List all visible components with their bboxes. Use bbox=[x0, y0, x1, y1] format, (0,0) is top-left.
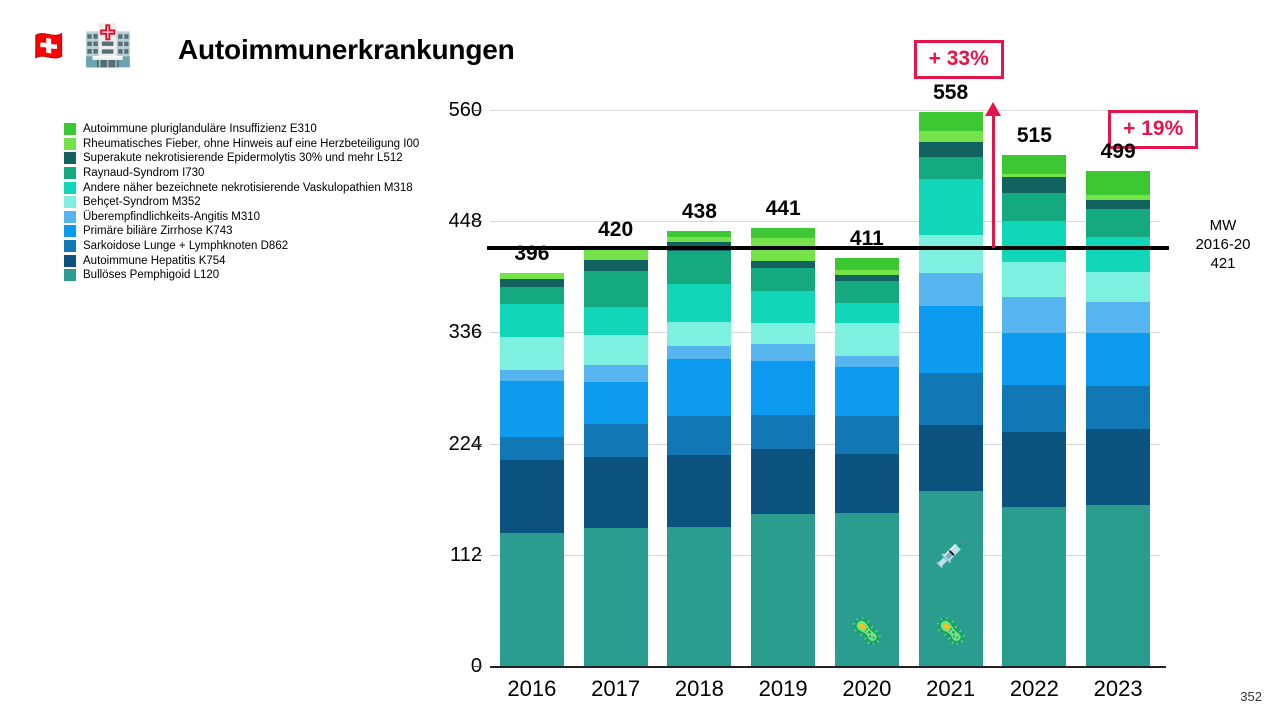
legend-item[interactable]: Bullöses Pemphigoid L120 bbox=[64, 268, 484, 283]
x-axis-label: 2020 bbox=[827, 676, 907, 702]
bar-segment[interactable] bbox=[835, 258, 899, 270]
legend-item-label: Autoimmune pluriglanduläre Insuffizienz … bbox=[83, 123, 317, 135]
bar-segment[interactable] bbox=[667, 455, 731, 527]
legend-swatch-icon bbox=[64, 196, 76, 208]
legend-item[interactable]: Raynaud-Syndrom I730 bbox=[64, 166, 484, 181]
legend-swatch-icon bbox=[64, 152, 76, 164]
virus-icon: 🦠 bbox=[931, 618, 971, 644]
bar-segment[interactable] bbox=[919, 157, 983, 179]
bar-segment[interactable] bbox=[584, 271, 648, 307]
bar-segment[interactable] bbox=[1002, 221, 1066, 262]
plot-area bbox=[490, 110, 1160, 666]
x-axis-label: 2023 bbox=[1078, 676, 1158, 702]
legend-item[interactable]: Autoimmune Hepatitis K754 bbox=[64, 253, 484, 268]
bar-segment[interactable] bbox=[500, 533, 564, 666]
bar-segment[interactable] bbox=[919, 425, 983, 492]
bar-segment[interactable] bbox=[751, 261, 815, 268]
gridline bbox=[490, 110, 1160, 111]
bar-segment[interactable] bbox=[1086, 505, 1150, 666]
virus-icon: 🦠 bbox=[847, 618, 887, 644]
bar-segment[interactable] bbox=[919, 306, 983, 374]
bar-total-label: 499 bbox=[1073, 140, 1163, 164]
legend-item-label: Rheumatisches Fieber, ohne Hinweis auf e… bbox=[83, 138, 419, 150]
y-axis-tick-mark bbox=[474, 444, 482, 445]
bar-segment[interactable] bbox=[584, 307, 648, 336]
mean-label-mw: MW bbox=[1180, 216, 1266, 235]
bar-segment[interactable] bbox=[584, 457, 648, 528]
page-title: Autoimmunerkrankungen bbox=[178, 34, 515, 66]
bar-total-label: 441 bbox=[738, 197, 828, 221]
legend-item[interactable]: Autoimmune pluriglanduläre Insuffizienz … bbox=[64, 122, 484, 137]
bar-segment[interactable] bbox=[835, 356, 899, 367]
bar-segment[interactable] bbox=[500, 279, 564, 287]
bar-total-label: 411 bbox=[822, 227, 912, 251]
bar-segment[interactable] bbox=[751, 344, 815, 361]
legend-item[interactable]: Überempfindlichkeits-Angitis M310 bbox=[64, 210, 484, 225]
legend-item[interactable]: Andere näher bezeichnete nekrotisierende… bbox=[64, 180, 484, 195]
bar-segment[interactable] bbox=[1086, 333, 1150, 386]
bar-segment[interactable] bbox=[1086, 272, 1150, 302]
legend-item-label: Sarkoidose Lunge + Lymphknoten D862 bbox=[83, 240, 288, 252]
bar-segment[interactable] bbox=[751, 268, 815, 291]
bar-total-label: 558 bbox=[906, 81, 996, 105]
bar-segment[interactable] bbox=[1002, 297, 1066, 334]
x-axis-label: 2018 bbox=[659, 676, 739, 702]
hospital-icon: 🏥 bbox=[83, 24, 133, 68]
bar-segment[interactable] bbox=[835, 303, 899, 323]
bar-segment[interactable] bbox=[667, 527, 731, 666]
bar-segment[interactable] bbox=[584, 249, 648, 260]
bar-segment[interactable] bbox=[1086, 171, 1150, 196]
swiss-flag-icon: 🇨🇭 bbox=[30, 30, 67, 64]
bar-stack[interactable] bbox=[500, 273, 564, 666]
legend-item-label: Überempfindlichkeits-Angitis M310 bbox=[83, 211, 260, 223]
legend-item-label: Bullöses Pemphigoid L120 bbox=[83, 269, 219, 281]
bar-total-label: 438 bbox=[654, 200, 744, 224]
bar-segment[interactable] bbox=[835, 454, 899, 514]
legend-item[interactable]: Superakute nekrotisierende Epidermolytis… bbox=[64, 151, 484, 166]
bar-segment[interactable] bbox=[500, 437, 564, 460]
bar-stack[interactable] bbox=[835, 258, 899, 666]
bar-total-label: 515 bbox=[989, 124, 1079, 148]
header: 🇨🇭 🏥 Autoimmunerkrankungen bbox=[0, 0, 1280, 92]
bar-segment[interactable] bbox=[835, 416, 899, 454]
chart-legend: Autoimmune pluriglanduläre Insuffizienz … bbox=[64, 122, 484, 283]
bar-segment[interactable] bbox=[835, 281, 899, 303]
bar-total-label: 396 bbox=[487, 242, 577, 266]
bar-total-label: 420 bbox=[571, 218, 661, 242]
bar-segment[interactable] bbox=[584, 335, 648, 365]
bar-segment[interactable] bbox=[500, 337, 564, 370]
bar-segment[interactable] bbox=[751, 514, 815, 666]
bar-segment[interactable] bbox=[667, 359, 731, 416]
legend-swatch-icon bbox=[64, 269, 76, 281]
bar-segment[interactable] bbox=[1002, 333, 1066, 385]
y-axis-tick-mark bbox=[474, 555, 482, 556]
x-axis-label: 2017 bbox=[576, 676, 656, 702]
x-axis-label: 2016 bbox=[492, 676, 572, 702]
x-axis-label: 2019 bbox=[743, 676, 823, 702]
bar-segment[interactable] bbox=[584, 424, 648, 457]
bar-segment[interactable] bbox=[1086, 200, 1150, 209]
legend-item[interactable]: Primäre biliäre Zirrhose K743 bbox=[64, 224, 484, 239]
bar-segment[interactable] bbox=[500, 370, 564, 381]
legend-item[interactable]: Rheumatisches Fieber, ohne Hinweis auf e… bbox=[64, 137, 484, 152]
mean-label-value: 421 bbox=[1180, 254, 1266, 273]
bar-segment[interactable] bbox=[584, 260, 648, 271]
bar-segment[interactable] bbox=[751, 323, 815, 345]
bar-segment[interactable] bbox=[584, 382, 648, 424]
legend-item-label: Autoimmune Hepatitis K754 bbox=[83, 255, 226, 267]
x-axis-label: 2021 bbox=[911, 676, 991, 702]
bar-segment[interactable] bbox=[1086, 209, 1150, 237]
bar-segment[interactable] bbox=[500, 460, 564, 533]
page-number: 352 bbox=[1240, 689, 1262, 704]
y-axis-tick-mark bbox=[474, 221, 482, 222]
bar-segment[interactable] bbox=[1002, 432, 1066, 507]
legend-swatch-icon bbox=[64, 211, 76, 223]
bar-segment[interactable] bbox=[919, 235, 983, 273]
bar-segment[interactable] bbox=[1002, 177, 1066, 194]
bar-segment[interactable] bbox=[919, 373, 983, 425]
bar-segment[interactable] bbox=[1086, 302, 1150, 334]
bar-segment[interactable] bbox=[667, 346, 731, 359]
legend-swatch-icon bbox=[64, 167, 76, 179]
bar-segment[interactable] bbox=[919, 273, 983, 306]
bar-stack[interactable] bbox=[667, 231, 731, 666]
bar-stack[interactable] bbox=[751, 228, 815, 666]
y-axis-tick-mark bbox=[474, 110, 482, 111]
bar-segment[interactable] bbox=[500, 381, 564, 437]
bar-segment[interactable] bbox=[1086, 237, 1150, 272]
bar-segment[interactable] bbox=[835, 323, 899, 357]
legend-item-label: Superakute nekrotisierende Epidermolytis… bbox=[83, 152, 403, 164]
bar-segment[interactable] bbox=[1086, 429, 1150, 505]
bar-segment[interactable] bbox=[584, 528, 648, 666]
legend-swatch-icon bbox=[64, 138, 76, 150]
legend-item-label: Primäre biliäre Zirrhose K743 bbox=[83, 225, 233, 237]
bar-segment[interactable] bbox=[919, 112, 983, 131]
legend-swatch-icon bbox=[64, 182, 76, 194]
bar-segment[interactable] bbox=[667, 416, 731, 455]
bar-segment[interactable] bbox=[1002, 193, 1066, 221]
legend-item-label: Andere näher bezeichnete nekrotisierende… bbox=[83, 182, 413, 194]
bar-segment[interactable] bbox=[835, 367, 899, 416]
bar-segment[interactable] bbox=[751, 361, 815, 415]
bar-segment[interactable] bbox=[919, 142, 983, 157]
bar-segment[interactable] bbox=[1086, 386, 1150, 429]
y-axis-tick-mark bbox=[474, 332, 482, 333]
bar-segment[interactable] bbox=[919, 131, 983, 142]
legend-swatch-icon bbox=[64, 225, 76, 237]
bar-segment[interactable] bbox=[1002, 507, 1066, 666]
bar-stack[interactable] bbox=[1086, 171, 1150, 666]
bar-segment[interactable] bbox=[1002, 155, 1066, 174]
mean-label-period: 2016-20 bbox=[1180, 235, 1266, 254]
syringe-icon: 💉 bbox=[931, 541, 971, 567]
bar-segment[interactable] bbox=[500, 287, 564, 304]
bar-segment[interactable] bbox=[919, 179, 983, 236]
bar-stack[interactable] bbox=[584, 249, 648, 666]
legend-swatch-icon bbox=[64, 240, 76, 252]
mean-line-label: MW 2016-20 421 bbox=[1180, 216, 1266, 273]
bar-segment[interactable] bbox=[667, 251, 731, 284]
legend-item-label: Raynaud-Syndrom I730 bbox=[83, 167, 204, 179]
legend-item[interactable]: Behçet-Syndrom M352 bbox=[64, 195, 484, 210]
bar-segment[interactable] bbox=[751, 415, 815, 449]
bar-segment[interactable] bbox=[500, 304, 564, 338]
legend-swatch-icon bbox=[64, 123, 76, 135]
y-axis-tick-mark bbox=[474, 666, 482, 667]
bar-stack[interactable] bbox=[919, 112, 983, 666]
bar-segment[interactable] bbox=[667, 322, 731, 347]
bar-segment[interactable] bbox=[667, 284, 731, 322]
x-axis-line bbox=[490, 666, 1166, 668]
bar-segment[interactable] bbox=[1002, 385, 1066, 432]
bar-stack[interactable] bbox=[1002, 155, 1066, 666]
bar-segment[interactable] bbox=[751, 291, 815, 323]
bar-segment[interactable] bbox=[751, 449, 815, 515]
bar-segment[interactable] bbox=[584, 365, 648, 382]
y-axis-ticks: 0112224336448560 bbox=[430, 110, 482, 666]
x-axis-label: 2022 bbox=[994, 676, 1074, 702]
badge-increase-2021: + 33% bbox=[914, 40, 1004, 79]
bar-segment[interactable] bbox=[1002, 262, 1066, 297]
legend-item-label: Behçet-Syndrom M352 bbox=[83, 196, 201, 208]
legend-swatch-icon bbox=[64, 255, 76, 267]
bar-segment[interactable] bbox=[751, 228, 815, 238]
legend-item[interactable]: Sarkoidose Lunge + Lymphknoten D862 bbox=[64, 239, 484, 254]
